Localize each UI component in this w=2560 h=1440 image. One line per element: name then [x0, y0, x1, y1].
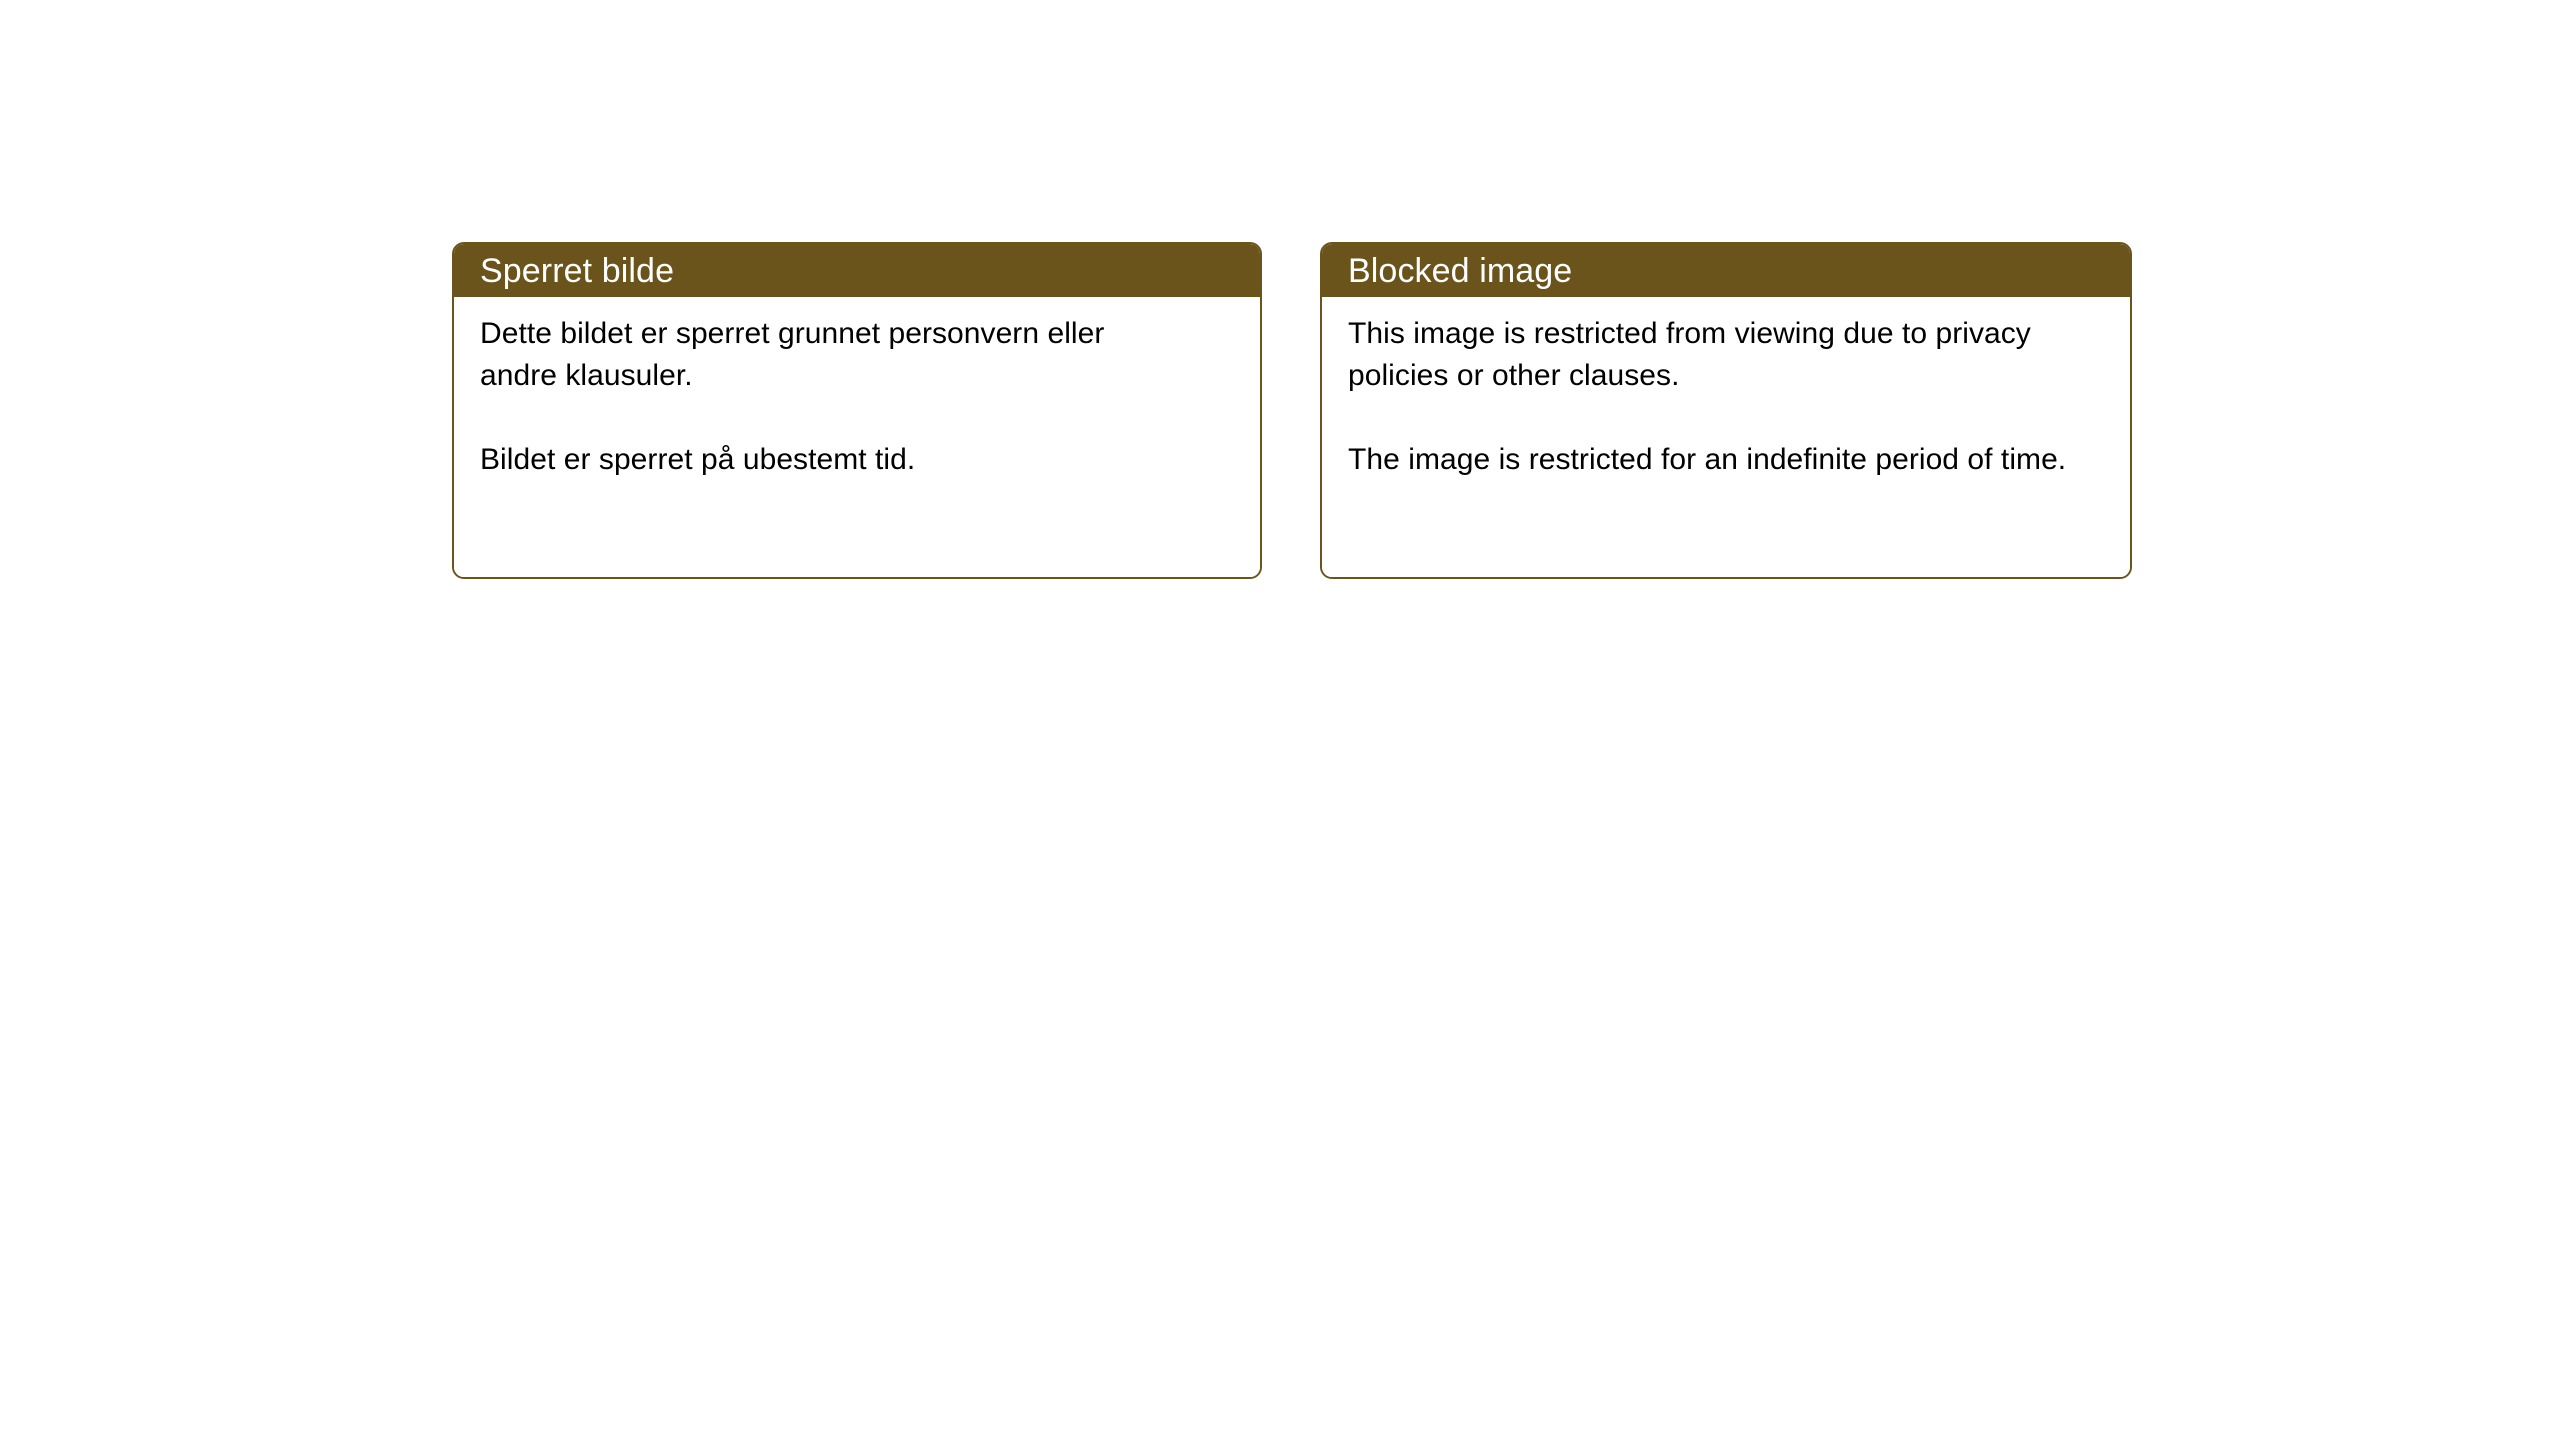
card-body-english: This image is restricted from viewing du… — [1322, 297, 2130, 577]
page-root: Sperret bilde Dette bildet er sperret gr… — [0, 0, 2560, 1440]
card-paragraph-privacy-norwegian: Dette bildet er sperret grunnet personve… — [480, 313, 1180, 397]
card-header-english: Blocked image — [1322, 244, 2130, 297]
card-title-english: Blocked image — [1348, 252, 1572, 290]
card-paragraph-duration-english: The image is restricted for an indefinit… — [1348, 439, 2078, 481]
blocked-image-notice-card-norwegian: Sperret bilde Dette bildet er sperret gr… — [452, 242, 1262, 579]
card-paragraph-duration-norwegian: Bildet er sperret på ubestemt tid. — [480, 439, 1180, 481]
blocked-image-notice-card-english: Blocked image This image is restricted f… — [1320, 242, 2132, 579]
notice-cards-row: Sperret bilde Dette bildet er sperret gr… — [452, 242, 2132, 579]
card-paragraph-privacy-english: This image is restricted from viewing du… — [1348, 313, 2078, 397]
card-title-norwegian: Sperret bilde — [480, 252, 674, 290]
card-header-norwegian: Sperret bilde — [454, 244, 1260, 297]
card-body-norwegian: Dette bildet er sperret grunnet personve… — [454, 297, 1260, 577]
